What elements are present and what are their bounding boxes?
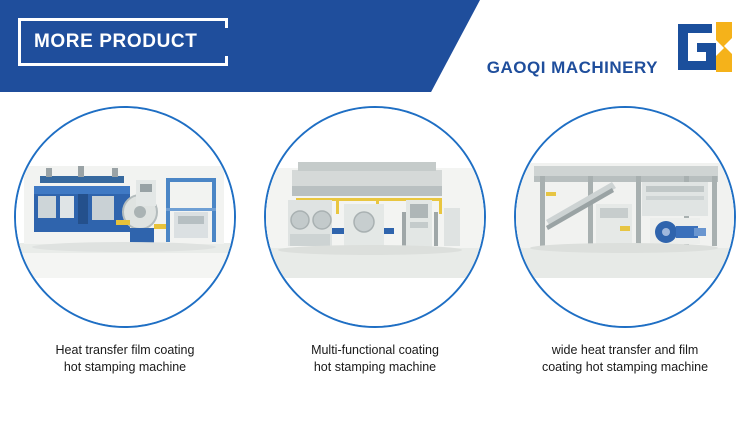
product-caption-3: wide heat transfer and film coating hot … <box>500 342 750 376</box>
brand-name: GAOQI MACHINERY <box>487 58 658 78</box>
gaoqi-logo-icon <box>672 16 738 78</box>
product-caption-2-line1: Multi-functional coating <box>260 342 490 359</box>
multi-functional-coating-machine-photo <box>266 108 484 326</box>
product-caption-1-line1: Heat transfer film coating <box>10 342 240 359</box>
product-caption-1: Heat transfer film coating hot stamping … <box>0 342 250 376</box>
product-caption-2: Multi-functional coating hot stamping ma… <box>250 342 500 376</box>
product-image-circle-2 <box>264 106 486 328</box>
product-caption-1-line2: hot stamping machine <box>10 359 240 376</box>
heat-transfer-film-coating-machine-photo <box>16 108 234 326</box>
product-caption-3-line1: wide heat transfer and film <box>510 342 740 359</box>
product-card-2[interactable]: Multi-functional coating hot stamping ma… <box>250 106 500 416</box>
product-list: Heat transfer film coating hot stamping … <box>0 92 750 430</box>
wide-heat-transfer-film-coating-machine-photo <box>516 108 734 326</box>
more-product-banner-page: MORE PRODUCT GAOQI MACHINERY <box>0 0 750 430</box>
product-card-1[interactable]: Heat transfer film coating hot stamping … <box>0 106 250 416</box>
product-card-3[interactable]: wide heat transfer and film coating hot … <box>500 106 750 416</box>
page-header: MORE PRODUCT GAOQI MACHINERY <box>0 0 750 92</box>
product-image-circle-1 <box>14 106 236 328</box>
product-caption-2-line2: hot stamping machine <box>260 359 490 376</box>
product-image-circle-3 <box>514 106 736 328</box>
more-product-title: MORE PRODUCT <box>30 28 238 56</box>
product-caption-3-line2: coating hot stamping machine <box>510 359 740 376</box>
